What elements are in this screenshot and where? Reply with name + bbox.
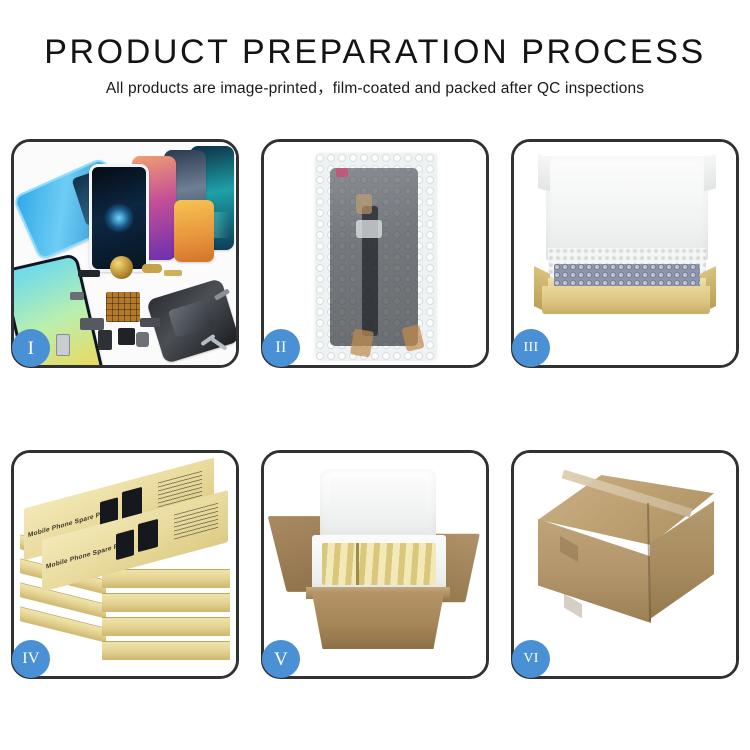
stacked-box-edge [102, 641, 230, 660]
pink-label-icon [336, 168, 348, 177]
bubble-wrap-scene [264, 142, 486, 365]
phone-print-icon [138, 519, 158, 552]
step-image-stacked-retail-boxes: Mobile Phone Spare Parts Mobile Phone Sp… [14, 453, 236, 676]
spare-part-icon [118, 328, 135, 345]
step-image-carton-with-foam-box [264, 453, 486, 676]
spare-part-icon [140, 318, 160, 327]
header: PRODUCT PREPARATION PROCESS All products… [0, 0, 750, 98]
chip-array-icon [106, 292, 140, 322]
stacked-box-edge [102, 593, 230, 612]
spare-part-icon [136, 332, 149, 347]
spare-part-icon [78, 270, 100, 277]
spare-part-icon [80, 318, 104, 330]
box-spec-lines [174, 503, 218, 541]
parts-collage [14, 142, 236, 365]
product-preparation-infographic: PRODUCT PREPARATION PROCESS All products… [0, 0, 750, 750]
step-badge-5: V [262, 640, 300, 678]
page-title: PRODUCT PREPARATION PROCESS [0, 0, 750, 71]
step-image-bubble-wrapped-lcd [264, 142, 486, 365]
connector-icon [356, 220, 382, 238]
step-image-open-kraft-box [514, 142, 736, 365]
process-step-panel-3[interactable]: III [511, 139, 739, 368]
phone-print-icon [116, 529, 134, 560]
step-badge-1: I [12, 329, 50, 367]
spare-part-icon [70, 292, 84, 300]
step-image-parts-collage [14, 142, 236, 365]
packing-scene [264, 453, 486, 676]
spare-part-icon [98, 330, 112, 350]
foam-lid-icon [546, 156, 708, 260]
open-box-scene [514, 142, 736, 365]
foam-box-lid-icon [320, 469, 436, 543]
box-stack-scene: Mobile Phone Spare Parts Mobile Phone Sp… [14, 453, 236, 676]
carton-body-icon [312, 593, 444, 649]
spare-part-icon [56, 334, 70, 356]
spare-part-icon [164, 270, 182, 276]
step-badge-2: II [262, 329, 300, 367]
process-step-panel-1[interactable]: I [11, 139, 239, 368]
page-subtitle: All products are image-printed，film-coat… [0, 71, 750, 99]
process-step-panel-2[interactable]: II [261, 139, 489, 368]
process-step-panel-4[interactable]: Mobile Phone Spare Parts Mobile Phone Sp… [11, 450, 239, 679]
orange-phone-icon [174, 200, 214, 262]
copper-coil-icon [110, 256, 133, 279]
step-image-sealed-carton [514, 453, 736, 676]
adhesive-tab-icon [401, 324, 424, 352]
adhesive-tab-icon [356, 194, 372, 214]
sealed-carton-scene [514, 453, 736, 676]
step-badge-6: VI [512, 640, 550, 678]
stacked-box-edge [102, 617, 230, 636]
process-step-panel-5[interactable]: V [261, 450, 489, 679]
spare-part-icon [142, 264, 162, 273]
box-front-panel-icon [542, 286, 710, 314]
step-badge-3: III [512, 329, 550, 367]
bubble-wrap-bag-icon [316, 154, 436, 360]
process-step-grid: I II [11, 139, 739, 679]
step-badge-4: IV [12, 640, 50, 678]
adhesive-tab-icon [350, 328, 374, 357]
stacked-box-edge [102, 569, 230, 588]
process-step-panel-6[interactable]: VI [511, 450, 739, 679]
packed-retail-boxes-icon [322, 543, 436, 585]
